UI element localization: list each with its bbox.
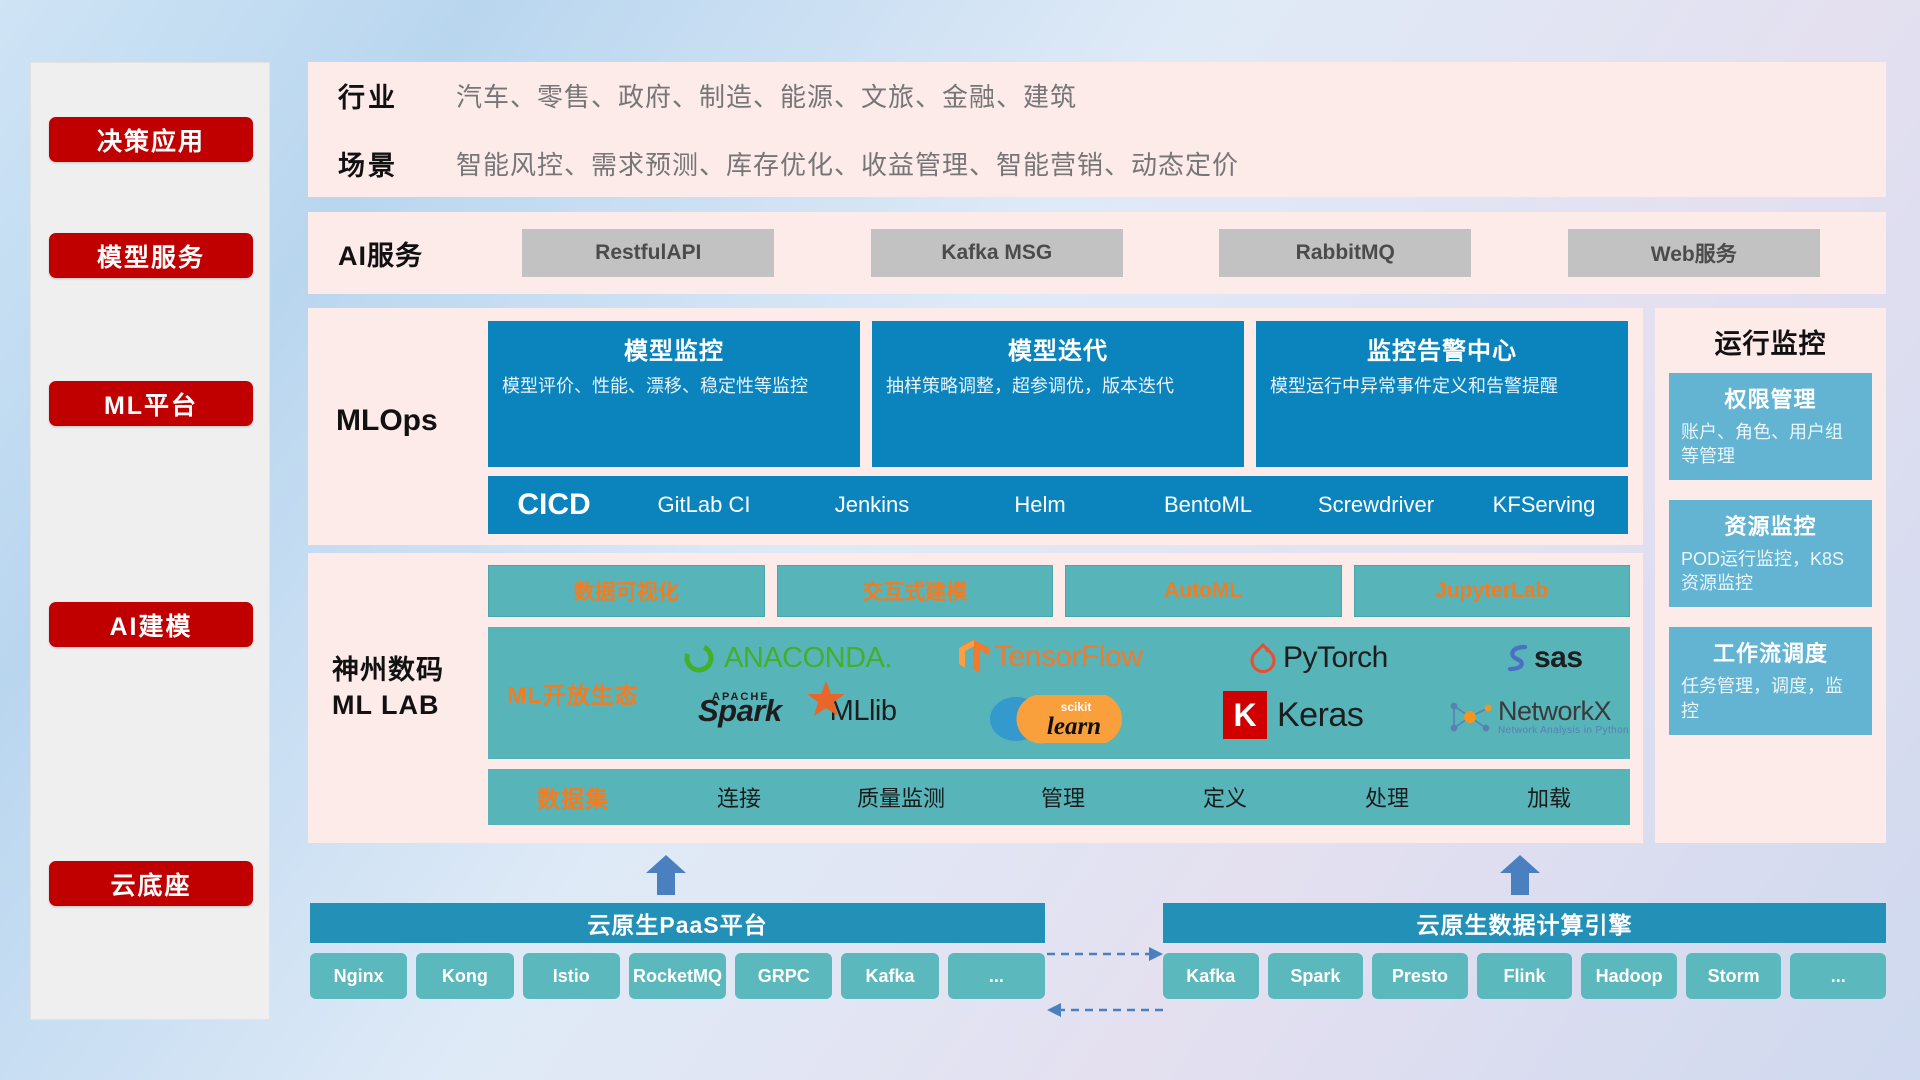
ml-ecosystem-logo-area: ANACONDA. TensorFlow [658,627,1630,759]
compute-chip-hadoop[interactable]: Hadoop [1581,953,1677,999]
ml-lab-label-line2: ML LAB [332,688,444,723]
ml-ecosystem-label: ML开放生态 [488,676,658,710]
ml-lab-label-line1: 神州数码 [332,653,444,688]
mlops-card-model-monitoring[interactable]: 模型监控 模型评价、性能、漂移、稳定性等监控 [488,321,860,467]
ai-service-chip-rabbitmq[interactable]: RabbitMQ [1219,229,1471,277]
card-title: 模型监控 [502,331,846,366]
ml-lab-content: 数据可视化 交互式建模 AutoML JupyterLab ML开放生态 ANA… [488,565,1630,825]
tool-chip-jupyterlab[interactable]: JupyterLab [1354,565,1631,617]
mlops-card-model-iteration[interactable]: 模型迭代 抽样策略调整，超参调优，版本迭代 [872,321,1244,467]
industry-label: 行业 [338,76,456,115]
tool-chip-automl[interactable]: AutoML [1065,565,1342,617]
anaconda-wordmark: ANACONDA. [724,642,892,675]
compute-chip-storm[interactable]: Storm [1686,953,1782,999]
tensorflow-wordmark: TensorFlow [994,640,1142,674]
paas-chip-grpc[interactable]: GRPC [735,953,832,999]
card-desc: 模型评价、性能、漂移、稳定性等监控 [502,375,846,399]
arrow-up-to-mllab-left-icon [644,855,688,895]
paas-chip-kong[interactable]: Kong [416,953,513,999]
monitor-card-workflow[interactable]: 工作流调度 任务管理，调度，监控 [1669,627,1872,734]
industry-values: 汽车、零售、政府、制造、能源、文旅、金融、建筑 [456,77,1077,114]
card-title: 资源监控 [1681,509,1860,541]
dataset-item-manage[interactable]: 管理 [982,781,1144,813]
compute-chip-more[interactable]: ... [1790,953,1886,999]
diagram-canvas: 决策应用 模型服务 ML平台 AI建模 云底座 行业 汽车、零售、政府、制造、能… [0,0,1920,1080]
rail-item-model-service[interactable]: 模型服务 [49,233,253,278]
dataset-item-load[interactable]: 加载 [1468,781,1630,813]
rail-item-ml-platform[interactable]: ML平台 [49,381,253,426]
pytorch-wordmark: PyTorch [1283,641,1388,675]
ai-service-chip-restfulapi[interactable]: RestfulAPI [522,229,774,277]
networkx-logo: NetworkX Network Analysis in Python [1448,697,1629,737]
pytorch-logo: PyTorch [1248,641,1388,675]
scikit-learn-logo: scikit learn [988,689,1148,745]
card-desc: 任务管理，调度，监控 [1681,674,1860,722]
cicd-item-gitlab-ci[interactable]: GitLab CI [620,494,788,516]
ml-ecosystem-row: ML开放生态 ANACONDA. [488,627,1630,759]
paas-chip-istio[interactable]: Istio [523,953,620,999]
pytorch-flame-icon [1248,642,1278,674]
paas-block: 云原生PaaS平台 Nginx Kong Istio RocketMQ GRPC… [310,903,1045,999]
anaconda-logo: ANACONDA. [682,641,892,675]
spark-apache-text: APACHE [712,691,770,703]
card-title: 工作流调度 [1681,636,1860,668]
mlops-label: MLOps [336,404,438,438]
sas-wordmark: sas [1534,641,1583,675]
cicd-item-helm[interactable]: Helm [956,494,1124,516]
sas-logo: sas [1503,641,1583,675]
spark-star-icon [806,679,846,721]
dataset-item-connect[interactable]: 连接 [658,781,820,813]
industry-scenario-panel: 行业 汽车、零售、政府、制造、能源、文旅、金融、建筑 场景 智能风控、需求预测、… [308,62,1886,197]
keras-logo: K Keras [1223,691,1363,739]
scenario-line: 场景 智能风控、需求预测、库存优化、收益管理、智能营销、动态定价 [308,130,1886,198]
paas-chip-list: Nginx Kong Istio RocketMQ GRPC Kafka ... [310,943,1045,999]
svg-text:learn: learn [1047,713,1101,740]
cicd-item-kfserving[interactable]: KFServing [1460,494,1628,516]
paas-chip-nginx[interactable]: Nginx [310,953,407,999]
tool-chip-data-visualization[interactable]: 数据可视化 [488,565,765,617]
ml-lab-panel: 神州数码 ML LAB 数据可视化 交互式建模 AutoML JupyterLa… [308,553,1643,843]
left-rail: 决策应用 模型服务 ML平台 AI建模 云底座 [30,62,270,1020]
networkx-tagline: Network Analysis in Python [1498,725,1629,736]
scenario-values: 智能风控、需求预测、库存优化、收益管理、智能营销、动态定价 [456,145,1239,182]
compute-chip-presto[interactable]: Presto [1372,953,1468,999]
dataset-label: 数据集 [488,780,658,814]
runtime-monitoring-title: 运行监控 [1655,308,1886,373]
ai-service-chip-list: RestfulAPI Kafka MSG RabbitMQ Web服务 [456,229,1886,277]
card-title: 模型迭代 [886,331,1230,366]
scikit-learn-blob-icon: scikit learn [988,689,1148,745]
keras-mark-icon: K [1223,691,1267,739]
bidirectional-connector-icon [1045,940,1165,1030]
dataset-row: 数据集 连接 质量监测 管理 定义 处理 加载 [488,769,1630,825]
anaconda-ring-icon [682,641,716,675]
ml-lab-tool-row: 数据可视化 交互式建模 AutoML JupyterLab [488,565,1630,617]
cicd-bar: CICD GitLab CI Jenkins Helm BentoML Scre… [488,476,1628,534]
scenario-label: 场景 [338,144,456,183]
dataset-item-define[interactable]: 定义 [1144,781,1306,813]
monitor-card-permission[interactable]: 权限管理 账户、角色、用户组等管理 [1669,373,1872,480]
ai-service-chip-web-service[interactable]: Web服务 [1568,229,1820,277]
sas-swoosh-icon [1503,642,1533,674]
paas-chip-kafka[interactable]: Kafka [841,953,938,999]
runtime-monitoring-panel: 运行监控 权限管理 账户、角色、用户组等管理 资源监控 POD运行监控，K8S资… [1655,308,1886,843]
monitor-card-resource[interactable]: 资源监控 POD运行监控，K8S资源监控 [1669,500,1872,607]
cicd-item-screwdriver[interactable]: Screwdriver [1292,494,1460,516]
paas-title: 云原生PaaS平台 [310,903,1045,943]
ai-service-label: AI服务 [338,234,456,273]
compute-chip-flink[interactable]: Flink [1477,953,1573,999]
industry-line: 行业 汽车、零售、政府、制造、能源、文旅、金融、建筑 [308,62,1886,130]
spark-mllib-logo: APACHE Spark MLlib [698,693,896,729]
tool-chip-interactive-modeling[interactable]: 交互式建模 [777,565,1054,617]
card-desc: 抽样策略调整，超参调优，版本迭代 [886,375,1230,399]
tensorflow-logo: TensorFlow [958,639,1142,675]
cicd-item-jenkins[interactable]: Jenkins [788,494,956,516]
compute-chip-list: Kafka Spark Presto Flink Hadoop Storm ..… [1163,943,1886,999]
card-title: 权限管理 [1681,382,1860,414]
compute-engine-title: 云原生数据计算引擎 [1163,903,1886,943]
networkx-wordmark: NetworkX [1498,698,1629,725]
compute-chip-kafka[interactable]: Kafka [1163,953,1259,999]
dataset-item-quality-monitoring[interactable]: 质量监测 [820,781,982,813]
ml-lab-label: 神州数码 ML LAB [332,653,444,723]
paas-chip-rocketmq[interactable]: RocketMQ [629,953,726,999]
compute-engine-block: 云原生数据计算引擎 Kafka Spark Presto Flink Hadoo… [1163,903,1886,999]
compute-chip-spark[interactable]: Spark [1268,953,1364,999]
svg-text:scikit: scikit [1061,700,1092,714]
dataset-item-process[interactable]: 处理 [1306,781,1468,813]
rail-item-ai-modeling[interactable]: AI建模 [49,602,253,647]
rail-item-cloud-base[interactable]: 云底座 [49,861,253,906]
mlops-card-list: 模型监控 模型评价、性能、漂移、稳定性等监控 模型迭代 抽样策略调整，超参调优，… [488,321,1628,467]
mlops-panel: MLOps 模型监控 模型评价、性能、漂移、稳定性等监控 模型迭代 抽样策略调整… [308,308,1643,545]
mlops-card-alert-center[interactable]: 监控告警中心 模型运行中异常事件定义和告警提醒 [1256,321,1628,467]
card-desc: 模型运行中异常事件定义和告警提醒 [1270,375,1614,399]
ai-service-panel: AI服务 RestfulAPI Kafka MSG RabbitMQ Web服务 [308,212,1886,294]
keras-wordmark: Keras [1277,696,1363,735]
card-title: 监控告警中心 [1270,331,1614,366]
ai-service-chip-kafka-msg[interactable]: Kafka MSG [871,229,1123,277]
card-desc: POD运行监控，K8S资源监控 [1681,547,1860,595]
networkx-graph-icon [1448,697,1494,737]
rail-item-decision-app[interactable]: 决策应用 [49,117,253,162]
cicd-item-bentoml[interactable]: BentoML [1124,494,1292,516]
cicd-label: CICD [488,488,620,522]
tensorflow-mark-icon [958,639,990,675]
arrow-up-to-mllab-right-icon [1498,855,1542,895]
paas-chip-more[interactable]: ... [948,953,1045,999]
card-desc: 账户、角色、用户组等管理 [1681,420,1860,468]
